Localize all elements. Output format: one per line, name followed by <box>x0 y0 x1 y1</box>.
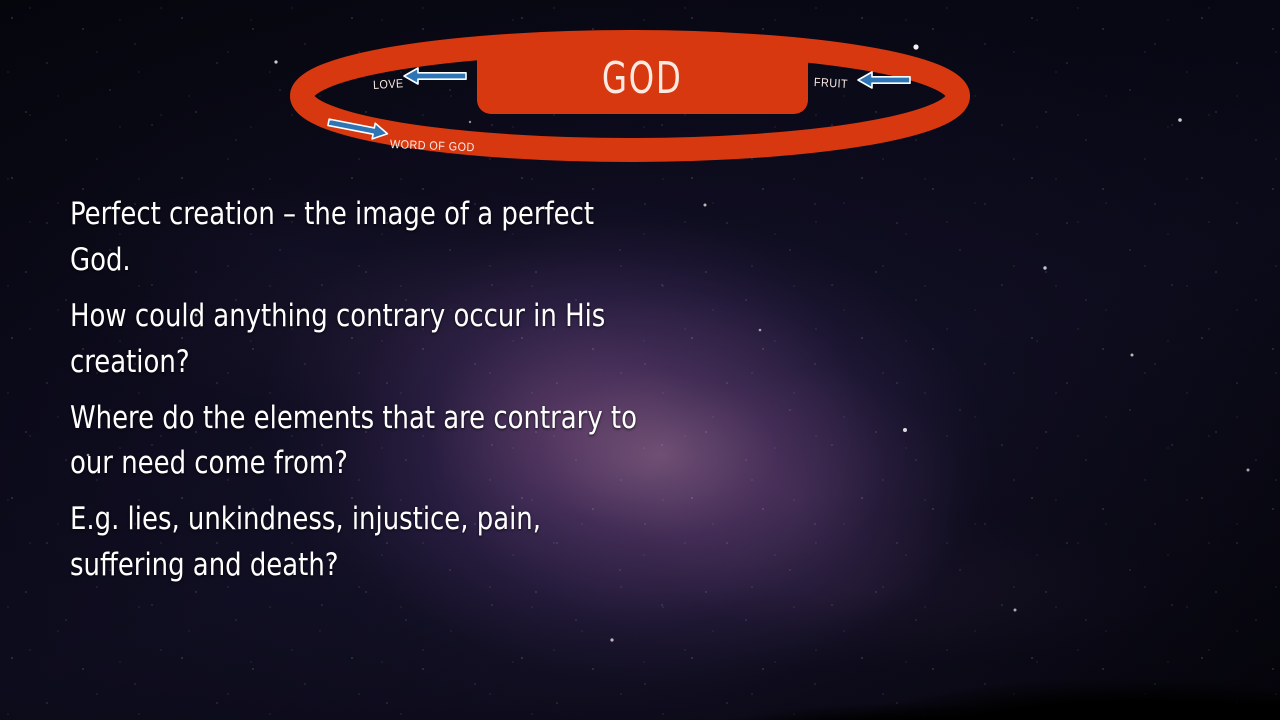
god-center-box: GOD <box>477 43 808 114</box>
ring-label-love: LOVE <box>373 76 404 92</box>
arrow-left-fruit-icon <box>856 70 912 90</box>
slide-body-text: Perfect creation – the image of a perfec… <box>70 192 690 589</box>
body-paragraph: Where do the elements that are contrary … <box>70 396 647 488</box>
arrow-left-love-icon <box>402 66 468 86</box>
arrow-right-word-of-god-icon <box>326 116 390 140</box>
presentation-slide: GOD LOVE FRUIT WORD OF GOD Perfect creat… <box>0 0 1280 720</box>
god-label: GOD <box>602 57 683 101</box>
body-paragraph: How could anything contrary occur in His… <box>70 294 647 386</box>
body-paragraph: Perfect creation – the image of a perfec… <box>70 192 647 284</box>
horizon-silhouette <box>0 630 1280 720</box>
body-paragraph: E.g. lies, unkindness, injustice, pain, … <box>70 497 647 589</box>
ring-label-fruit: FRUIT <box>814 75 849 91</box>
